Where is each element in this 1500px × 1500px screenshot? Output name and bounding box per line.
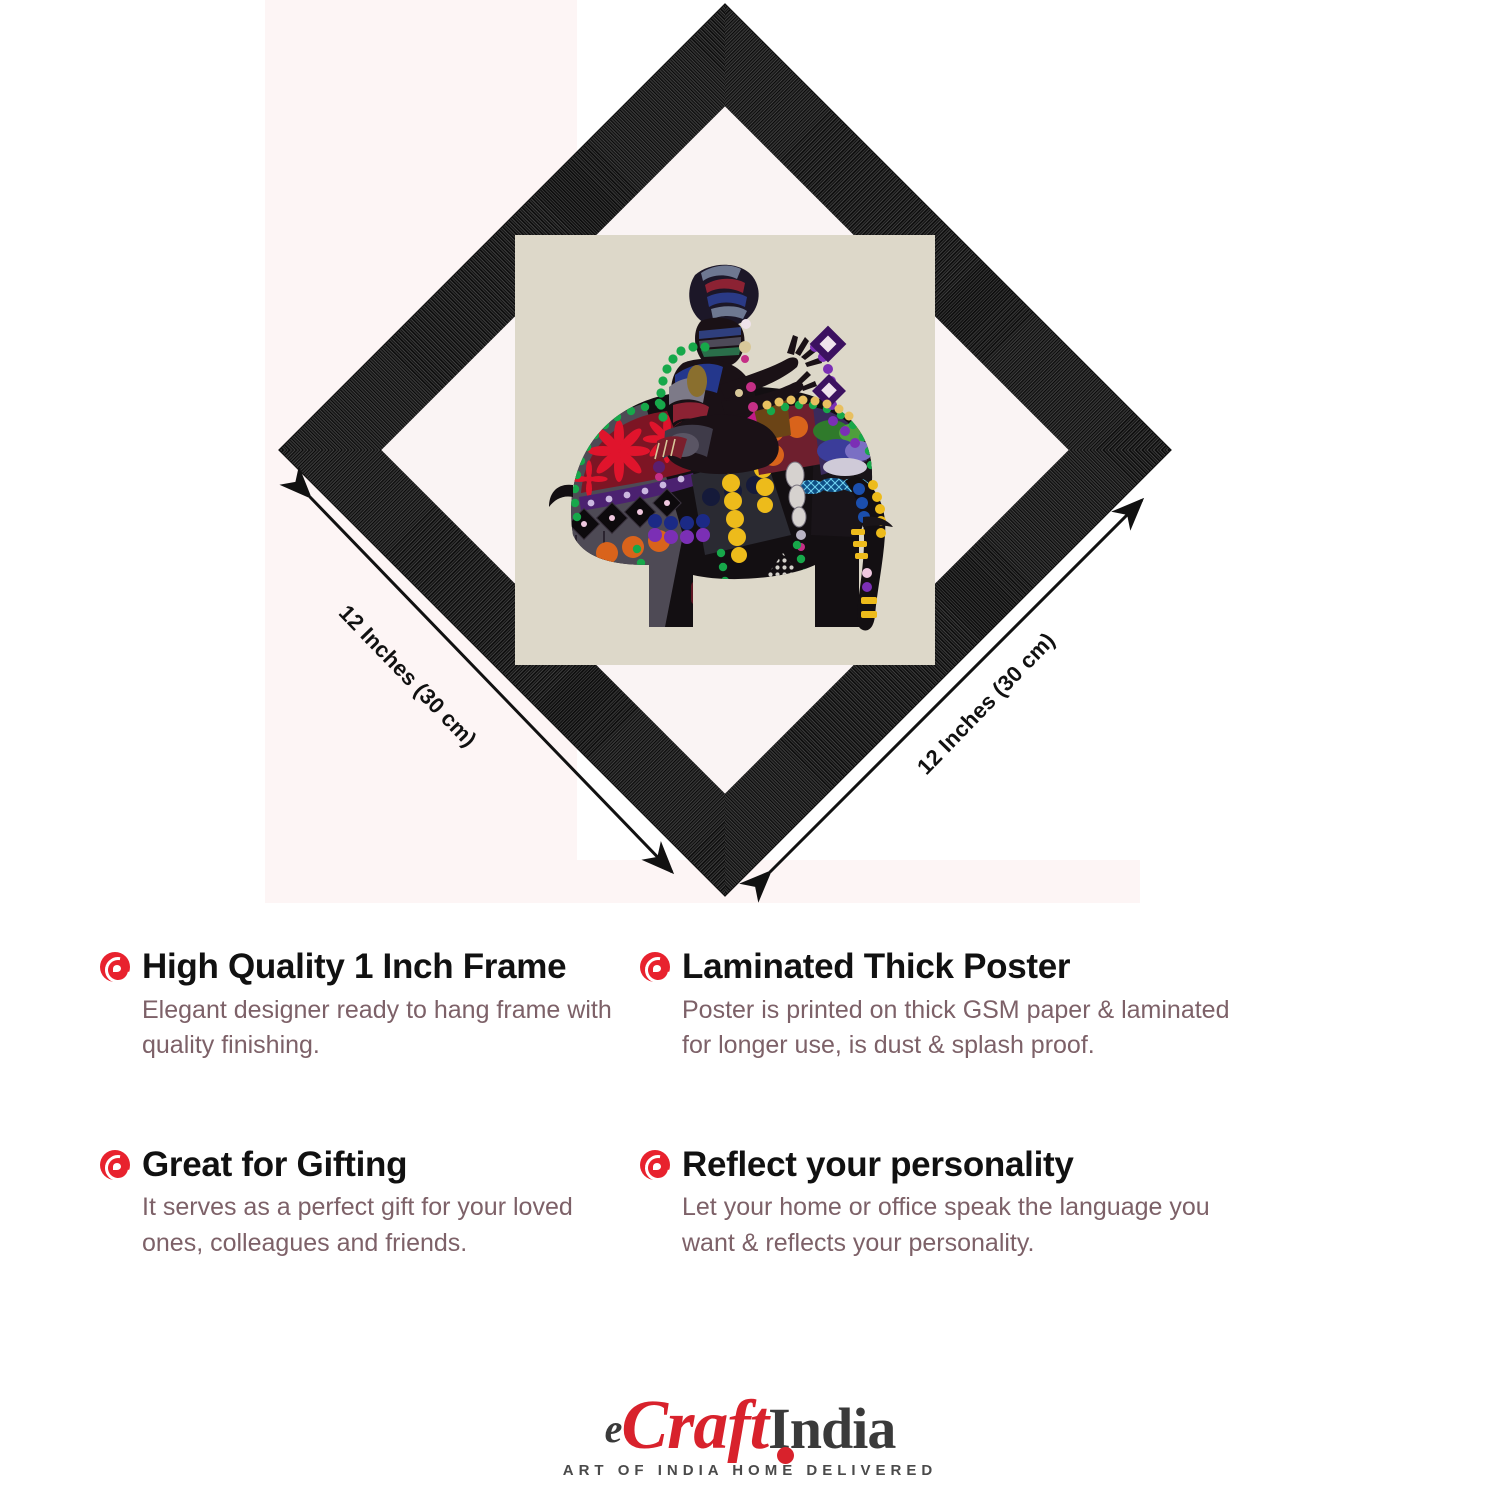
feature-2-desc: Poster is printed on thick GSM paper & l…: [640, 993, 1260, 1064]
feature-2-title: Laminated Thick Poster: [682, 948, 1070, 987]
feature-1-title: High Quality 1 Inch Frame: [142, 948, 566, 987]
elephant-artwork-svg: [515, 235, 935, 665]
feature-card-2: Laminated Thick Poster Poster is printed…: [620, 948, 1380, 1064]
logo-tagline: ART OF INDIA HOME DELIVERED: [563, 1463, 937, 1478]
feature-1-head: High Quality 1 Inch Frame: [100, 948, 620, 987]
logo-wordmark: eCraftIndia: [563, 1391, 937, 1461]
feature-4-head: Reflect your personality: [640, 1146, 1380, 1185]
brand-logo[interactable]: eCraftIndia ART OF INDIA HOME DELIVERED: [0, 1391, 1500, 1480]
feature-row-2: Great for Gifting It serves as a perfect…: [0, 1146, 1500, 1302]
feature-card-1: High Quality 1 Inch Frame Elegant design…: [0, 948, 620, 1064]
feature-1-desc: Elegant designer ready to hang frame wit…: [100, 993, 620, 1064]
features-section: High Quality 1 Inch Frame Elegant design…: [0, 948, 1500, 1301]
product-infographic-page: 12 Inches (30 cm) 12 Inches (30 cm) High…: [0, 0, 1500, 1500]
logo-craft-word: Craft: [621, 1387, 768, 1464]
feature-4-title: Reflect your personality: [682, 1146, 1074, 1185]
feature-card-4: Reflect your personality Let your home o…: [620, 1146, 1380, 1262]
feature-row-1: High Quality 1 Inch Frame Elegant design…: [0, 948, 1500, 1104]
feature-3-head: Great for Gifting: [100, 1146, 620, 1185]
logo-mark: eCraftIndia ART OF INDIA HOME DELIVERED: [563, 1391, 937, 1478]
ecraftindia-bullet-icon: [640, 952, 670, 982]
feature-3-desc: It serves as a perfect gift for your lov…: [100, 1190, 620, 1261]
feature-4-desc: Let your home or office speak the langua…: [640, 1190, 1260, 1261]
ecraftindia-bullet-icon: [100, 1150, 130, 1180]
logo-e-prefix: e: [605, 1406, 622, 1451]
feature-2-head: Laminated Thick Poster: [640, 948, 1380, 987]
feature-3-title: Great for Gifting: [142, 1146, 407, 1185]
artwork-poster: [515, 235, 935, 665]
logo-accent-dot-icon: [777, 1447, 794, 1464]
ecraftindia-bullet-icon: [640, 1150, 670, 1180]
feature-card-3: Great for Gifting It serves as a perfect…: [0, 1146, 620, 1262]
ecraftindia-bullet-icon: [100, 952, 130, 982]
